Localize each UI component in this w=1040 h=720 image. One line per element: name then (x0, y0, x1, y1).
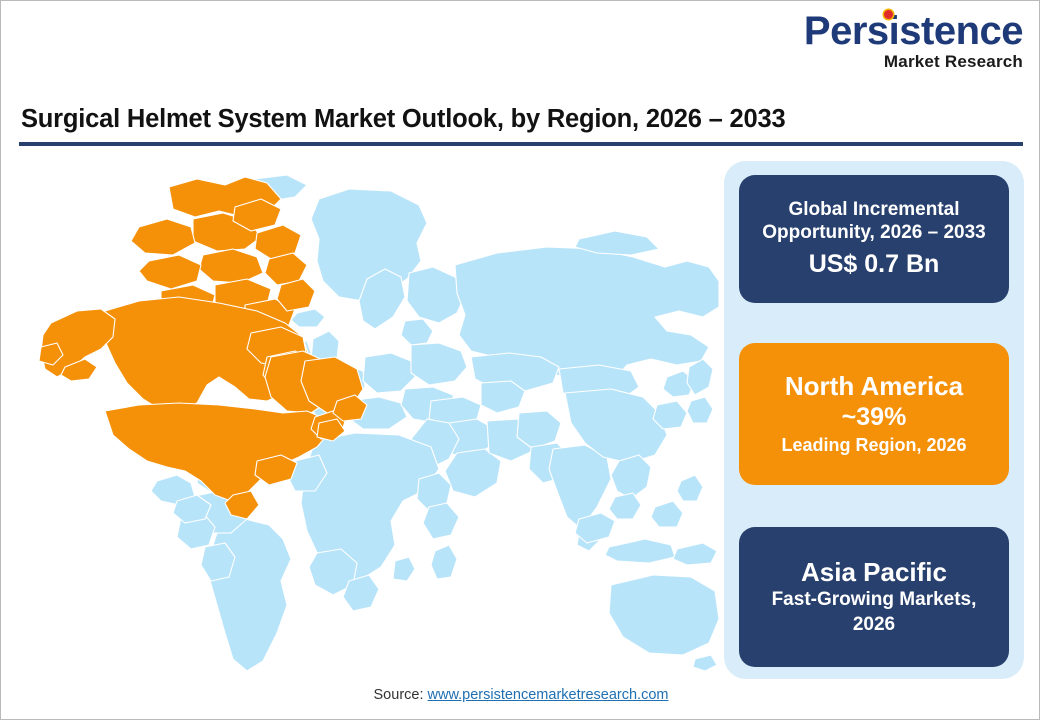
world-map (19, 161, 719, 671)
card-1-value: US$ 0.7 Bn (809, 248, 940, 281)
logo-wordmark: Persistence (804, 11, 1023, 51)
card-1-line-1: Global Incremental (788, 198, 959, 222)
card-2-share-value: ~39% (842, 402, 907, 432)
card-3-caption: Fast-Growing Markets, 2026 (749, 588, 999, 637)
company-logo: Persistence Market Research (804, 11, 1023, 70)
source-link[interactable]: www.persistencemarketresearch.com (428, 687, 669, 703)
source-label: Source: (374, 687, 428, 703)
flower-dot-icon (884, 10, 893, 19)
title-divider (19, 142, 1023, 146)
card-fast-growing-region[interactable]: Asia Pacific Fast-Growing Markets, 2026 (739, 527, 1009, 667)
logo-tagline: Market Research (804, 53, 1023, 70)
card-global-incremental-opportunity[interactable]: Global Incremental Opportunity, 2026 – 2… (739, 175, 1009, 303)
source-line: Source: www.persistencemarketresearch.co… (1, 687, 1040, 703)
card-leading-region[interactable]: North America ~39% Leading Region, 2026 (739, 343, 1009, 485)
infographic-frame: Persistence Market Research Surgical Hel… (0, 0, 1040, 720)
logo-wordmark-text: Persistence (804, 9, 1023, 53)
stats-panel: Global Incremental Opportunity, 2026 – 2… (724, 161, 1024, 679)
world-map-svg (19, 161, 719, 671)
page-title: Surgical Helmet System Market Outlook, b… (21, 105, 1023, 134)
card-2-caption: Leading Region, 2026 (781, 434, 966, 457)
card-2-region-name: North America (785, 371, 963, 402)
card-1-line-2: Opportunity, 2026 – 2033 (762, 221, 986, 245)
card-3-region-name: Asia Pacific (801, 557, 947, 588)
